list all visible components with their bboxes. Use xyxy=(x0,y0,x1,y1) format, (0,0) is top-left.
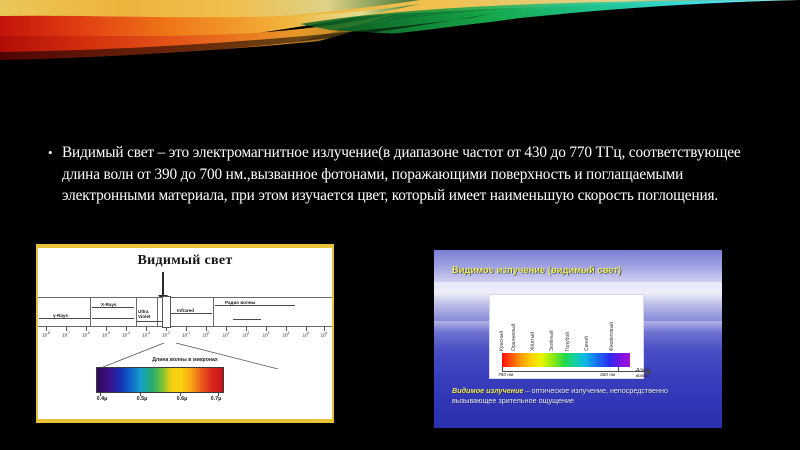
tick-label: 10-8 xyxy=(42,331,50,337)
em-spectrum-canvas: Видимый свет γ-Rays X-Rays Ultra Violet … xyxy=(38,248,332,419)
visible-light-image: Видимое излучение (видимый свет) Красный… xyxy=(434,250,722,428)
em-tick-axis: 10-8 10-7 10-6 10-5 10-4 10-3 10-2 10-1 … xyxy=(36,327,334,343)
vis-tick-label: 0.4μ xyxy=(97,396,108,402)
vis-tick-label: 0.5μ xyxy=(137,396,148,402)
decorative-swoosh-banner xyxy=(0,0,800,108)
tick-label: 10-7 xyxy=(62,331,70,337)
tick-label: 102 xyxy=(243,331,250,337)
visible-band-marker xyxy=(162,296,171,328)
bullet-block: • Видимый свет – это электромагнитное из… xyxy=(46,142,762,207)
tick-label: 10-1 xyxy=(182,331,190,337)
tick-label: 104 xyxy=(283,331,290,337)
caption-lead: Видимое излучение xyxy=(452,386,523,395)
axis-title: Длина волны xyxy=(636,367,649,378)
visible-light-panel: Красный Оранжевый Жёлтый Зелёный Голубой… xyxy=(489,294,644,379)
band-label-radio: Радио волны xyxy=(225,300,255,305)
axis-title-line2: волны xyxy=(636,373,649,379)
band-label-xray: X-Rays xyxy=(101,302,117,307)
slide-root: • Видимый свет – это электромагнитное из… xyxy=(0,0,800,450)
band-divider xyxy=(213,298,214,326)
visible-spectrum-bar xyxy=(502,353,630,367)
tick-label: 103 xyxy=(263,331,270,337)
zoom-funnel-lines xyxy=(98,343,278,369)
band-label-uv-line2: Violet xyxy=(138,314,150,319)
color-label-green: Зелёный xyxy=(549,331,555,351)
visible-light-title: Видимое излучение (видимый свет) xyxy=(452,264,621,275)
tick-label: 105 xyxy=(303,331,310,337)
tick-label: 106 xyxy=(321,331,328,337)
axis-tick-right xyxy=(618,367,619,372)
bullet-item: • Видимый свет – это электромагнитное из… xyxy=(46,142,762,207)
color-label-yellow: Жёлтый xyxy=(530,332,536,351)
wavelength-axis xyxy=(502,371,648,372)
vis-tick-label: 0.7μ xyxy=(211,396,222,402)
visible-strip-ticks: 0.4μ 0.5μ 0.6μ 0.7μ xyxy=(96,393,224,407)
axis-label-right: 380 нм xyxy=(600,373,615,378)
tick-label: 10-3 xyxy=(142,331,150,337)
band-label-gamma: γ-Rays xyxy=(53,313,68,318)
axis-label-left: 780 нм xyxy=(498,373,513,378)
color-label-blue: Синий xyxy=(584,336,590,351)
em-spectrum-title: Видимый свет xyxy=(38,253,332,269)
tick-label: 10-2 xyxy=(162,331,170,337)
visible-pointer-arrow xyxy=(162,272,164,298)
visible-strip-caption: Длина волны в микронах xyxy=(38,357,332,363)
em-band-bar: γ-Rays X-Rays Ultra Violet Infrared Ради… xyxy=(36,297,334,327)
band-divider xyxy=(90,298,91,326)
axis-tick-left xyxy=(502,367,503,372)
tick-label: 101 xyxy=(223,331,230,337)
bullet-marker: • xyxy=(46,142,62,164)
visible-spectrum-strip xyxy=(96,367,224,393)
color-label-orange: Оранжевый xyxy=(511,324,517,351)
tick-label: 10-4 xyxy=(122,331,130,337)
visible-light-caption: Видимое излучение – оптическое излучение… xyxy=(452,386,712,405)
color-label-violet: Фиолетовый xyxy=(609,322,615,351)
color-label-cyan: Голубой xyxy=(565,332,571,351)
bullet-text: Видимый свет – это электромагнитное излу… xyxy=(62,142,762,207)
vis-tick-label: 0.6μ xyxy=(177,396,188,402)
tick-label: 10-6 xyxy=(82,331,90,337)
band-label-infrared: Infrared xyxy=(177,308,194,313)
tick-label: 100 xyxy=(203,331,210,337)
color-label-group: Красный Оранжевый Жёлтый Зелёный Голубой… xyxy=(490,295,643,351)
em-spectrum-image: Видимый свет γ-Rays X-Rays Ultra Violet … xyxy=(36,244,334,423)
tick-label: 10-5 xyxy=(102,331,110,337)
axis-title-line1: Длина xyxy=(636,367,649,373)
color-label-red: Красный xyxy=(499,331,505,351)
